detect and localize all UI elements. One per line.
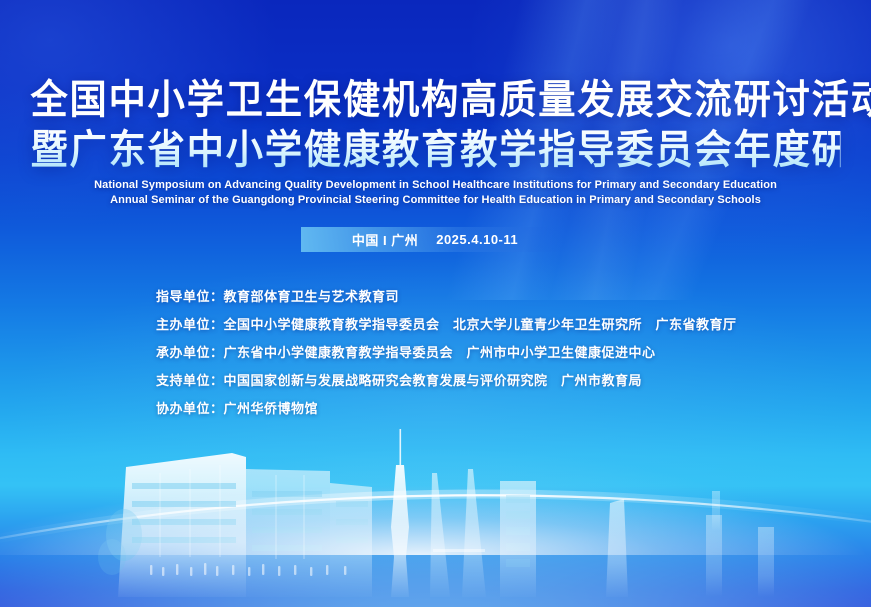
organizer-row: 主办单位： 全国中小学健康教育教学指导委员会 北京大学儿童青少年卫生研究所 广东… [156, 316, 796, 333]
english-subtitle-line2: Annual Seminar of the Guangdong Provinci… [0, 193, 871, 208]
english-subtitle: National Symposium on Advancing Quality … [0, 178, 871, 208]
organizer-label: 主办单位： [156, 316, 224, 333]
city-skyline-illustration [0, 407, 871, 607]
english-subtitle-line1: National Symposium on Advancing Quality … [0, 178, 871, 193]
organizer-value: 全国中小学健康教育教学指导委员会 北京大学儿童青少年卫生研究所 广东省教育厅 [224, 316, 737, 333]
location-date-banner: 中国 I 广州 2025.4.10-11 [301, 227, 569, 252]
organizer-value: 教育部体育卫生与艺术教育司 [224, 288, 400, 305]
organizer-row: 协办单位： 广州华侨博物馆 [156, 400, 796, 417]
organizer-value: 中国国家创新与发展战略研究会教育发展与评价研究院 广州市教育局 [224, 372, 643, 389]
banner-location: 中国 I 广州 [352, 230, 418, 249]
twin-spire-towers-icon [430, 469, 486, 597]
page-title-line1: 全国中小学卫生保健机构高质量发展交流研讨活动 [30, 78, 840, 122]
organizer-label: 承办单位： [156, 344, 224, 361]
organizer-row: 支持单位： 中国国家创新与发展战略研究会教育发展与评价研究院 广州市教育局 [156, 372, 796, 389]
page-title-line2: 暨广东省中小学健康教育教学指导委员会年度研讨活动 [30, 128, 840, 172]
office-tower-icon [500, 481, 536, 597]
canton-tower-icon [391, 429, 409, 597]
organizer-label: 支持单位： [156, 372, 224, 389]
organizer-value: 广州华侨博物馆 [224, 400, 319, 417]
organizer-value: 广东省中小学健康教育教学指导委员会 广州市中小学卫生健康促进中心 [224, 344, 656, 361]
organizer-label: 协办单位： [156, 400, 224, 417]
organizer-row: 指导单位： 教育部体育卫生与艺术教育司 [156, 288, 796, 305]
right-skyscraper-icon [606, 499, 628, 597]
banner-date: 2025.4.10-11 [436, 232, 518, 247]
distant-towers-icon [706, 491, 774, 597]
organizer-list: 指导单位： 教育部体育卫生与艺术教育司 主办单位： 全国中小学健康教育教学指导委… [156, 288, 796, 428]
organizer-label: 指导单位： [156, 288, 224, 305]
organizer-row: 承办单位： 广东省中小学健康教育教学指导委员会 广州市中小学卫生健康促进中心 [156, 344, 796, 361]
school-building-icon [98, 453, 372, 597]
conference-poster: 全国中小学卫生保健机构高质量发展交流研讨活动 暨广东省中小学健康教育教学指导委员… [0, 0, 871, 607]
